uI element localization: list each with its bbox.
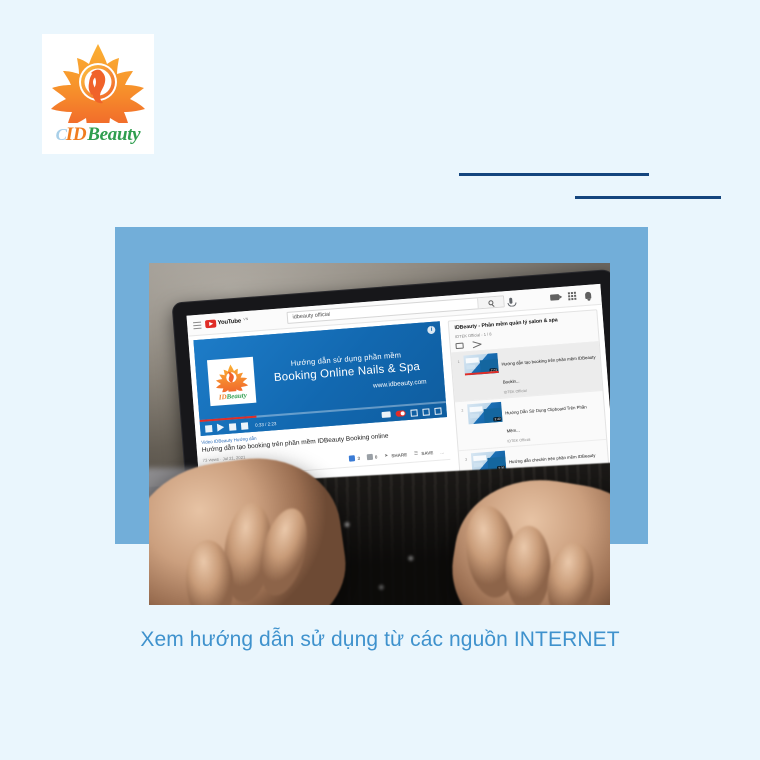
- microphone-icon[interactable]: [509, 298, 512, 304]
- theater-icon[interactable]: [423, 408, 431, 416]
- playlist-item-title: Hướng dẫn tạo booking trên phần mềm IDBe…: [501, 354, 595, 384]
- youtube-logo-text: YouTube: [217, 319, 241, 327]
- playlist-item-text: Hướng Dẫn Sử Dụng Clipboard Trên Phần Mề…: [504, 394, 602, 443]
- subtitles-icon[interactable]: [382, 411, 391, 418]
- save-button[interactable]: ☰ SAVE: [414, 449, 434, 456]
- next-icon[interactable]: [229, 423, 237, 431]
- search-icon: [488, 300, 493, 305]
- youtube-logo[interactable]: YouTube VN: [205, 317, 249, 328]
- brand-wordmark: CIDBeauty: [56, 124, 141, 146]
- player-time: 0:33 / 2:23: [255, 421, 277, 428]
- video-camera-icon[interactable]: [550, 294, 559, 301]
- thumbs-up-icon: [349, 455, 355, 461]
- dislike-count: 0: [375, 454, 378, 459]
- brand-logo: CIDBeauty: [42, 34, 154, 154]
- playlist-item-index: 2: [459, 404, 465, 412]
- shuffle-icon[interactable]: [473, 341, 481, 348]
- hamburger-menu-icon[interactable]: [193, 321, 202, 329]
- player-controls-left: 0:33 / 2:23: [205, 419, 277, 432]
- youtube-header-actions: [550, 290, 595, 301]
- playlist-item-thumbnail: 3:40: [467, 401, 502, 424]
- player-controls-right: [382, 407, 442, 419]
- page-caption: Xem hướng dẫn sử dụng từ các nguồn INTER…: [0, 628, 760, 652]
- video-player[interactable]: i: [193, 321, 447, 436]
- wordmark-beauty: Beauty: [87, 124, 140, 146]
- maple-leaf-icon: [50, 41, 146, 123]
- poster-page: CIDBeauty YouTube VN: [0, 0, 760, 760]
- slide-text-block: Hướng dẫn sử dụng phần mềm Booking Onlin…: [261, 348, 433, 398]
- search-button[interactable]: [477, 296, 504, 308]
- fullscreen-icon[interactable]: [435, 407, 443, 415]
- like-count: 3: [357, 455, 360, 460]
- autoplay-toggle[interactable]: [396, 410, 406, 417]
- playlist-item-index: 3: [463, 453, 469, 461]
- bell-icon[interactable]: [585, 291, 592, 298]
- apps-grid-icon[interactable]: [568, 292, 577, 301]
- save-label: SAVE: [421, 450, 433, 456]
- more-actions-button[interactable]: ...: [440, 449, 444, 454]
- wordmark-id: ID: [66, 124, 87, 146]
- decor-line-bottom: [575, 196, 721, 199]
- laptop-photo: YouTube VN idbeauty official: [149, 263, 610, 605]
- playlist-item-index: 1: [456, 355, 462, 363]
- search-input-value: idbeauty official: [287, 312, 330, 321]
- previous-icon[interactable]: [205, 425, 213, 433]
- share-label: SHARE: [391, 452, 407, 458]
- playlist-item-text: Hướng dẫn tạo booking trên phần mềm IDBe…: [501, 345, 599, 394]
- miniplayer-icon[interactable]: [411, 409, 419, 417]
- slide-logo-wordmark: IDBeauty: [219, 391, 248, 401]
- share-button[interactable]: ➤ SHARE: [384, 451, 407, 459]
- slide-brand-logo: IDBeauty: [207, 357, 256, 406]
- thumbs-down-icon: [367, 454, 373, 460]
- dislike-button[interactable]: 0: [367, 454, 378, 461]
- decor-line-top: [459, 173, 649, 176]
- playlist-item-title: Hướng Dẫn Sử Dụng Clipboard Trên Phần Mề…: [505, 404, 587, 433]
- youtube-play-icon: [205, 319, 217, 328]
- play-icon[interactable]: [217, 423, 225, 432]
- playlist-item-thumbnail: 2:23: [464, 352, 499, 375]
- playlist-item-duration: 3:40: [493, 416, 502, 421]
- like-button[interactable]: 3: [349, 455, 360, 462]
- loop-icon[interactable]: [456, 342, 464, 349]
- volume-icon[interactable]: [241, 422, 249, 430]
